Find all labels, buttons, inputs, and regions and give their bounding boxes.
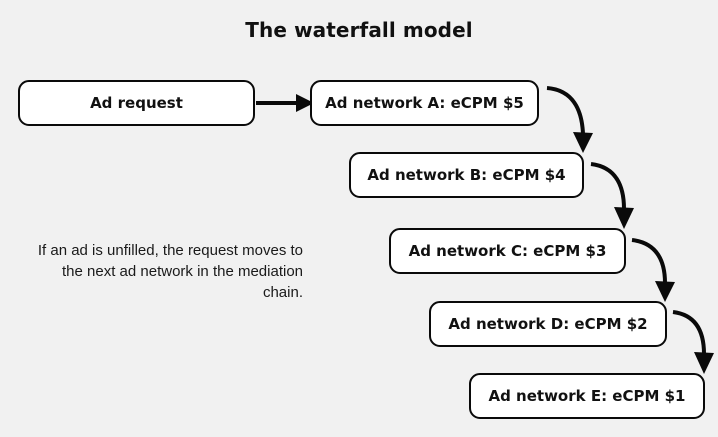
node-label: Ad network A: eCPM $5 [325, 94, 524, 112]
diagram-canvas: The waterfall model Ad request Ad networ… [0, 0, 718, 437]
explanatory-caption: If an ad is unfilled, the request moves … [28, 240, 303, 303]
node-ad-network-d[interactable]: Ad network D: eCPM $2 [429, 301, 667, 347]
page-title: The waterfall model [0, 18, 718, 42]
edge-request-to-a [256, 94, 314, 112]
node-ad-network-a[interactable]: Ad network A: eCPM $5 [310, 80, 539, 126]
node-label: Ad request [90, 94, 183, 112]
connector-layer [0, 0, 718, 437]
node-label: Ad network B: eCPM $4 [367, 166, 565, 184]
edge-a-to-b [547, 88, 593, 153]
edge-d-to-e [673, 312, 714, 374]
edge-b-to-c [591, 164, 634, 229]
edge-c-to-d [632, 240, 675, 302]
node-label: Ad network E: eCPM $1 [488, 387, 685, 405]
node-ad-request[interactable]: Ad request [18, 80, 255, 126]
node-ad-network-b[interactable]: Ad network B: eCPM $4 [349, 152, 584, 198]
node-ad-network-c[interactable]: Ad network C: eCPM $3 [389, 228, 626, 274]
node-label: Ad network C: eCPM $3 [409, 242, 607, 260]
node-label: Ad network D: eCPM $2 [448, 315, 647, 333]
node-ad-network-e[interactable]: Ad network E: eCPM $1 [469, 373, 705, 419]
